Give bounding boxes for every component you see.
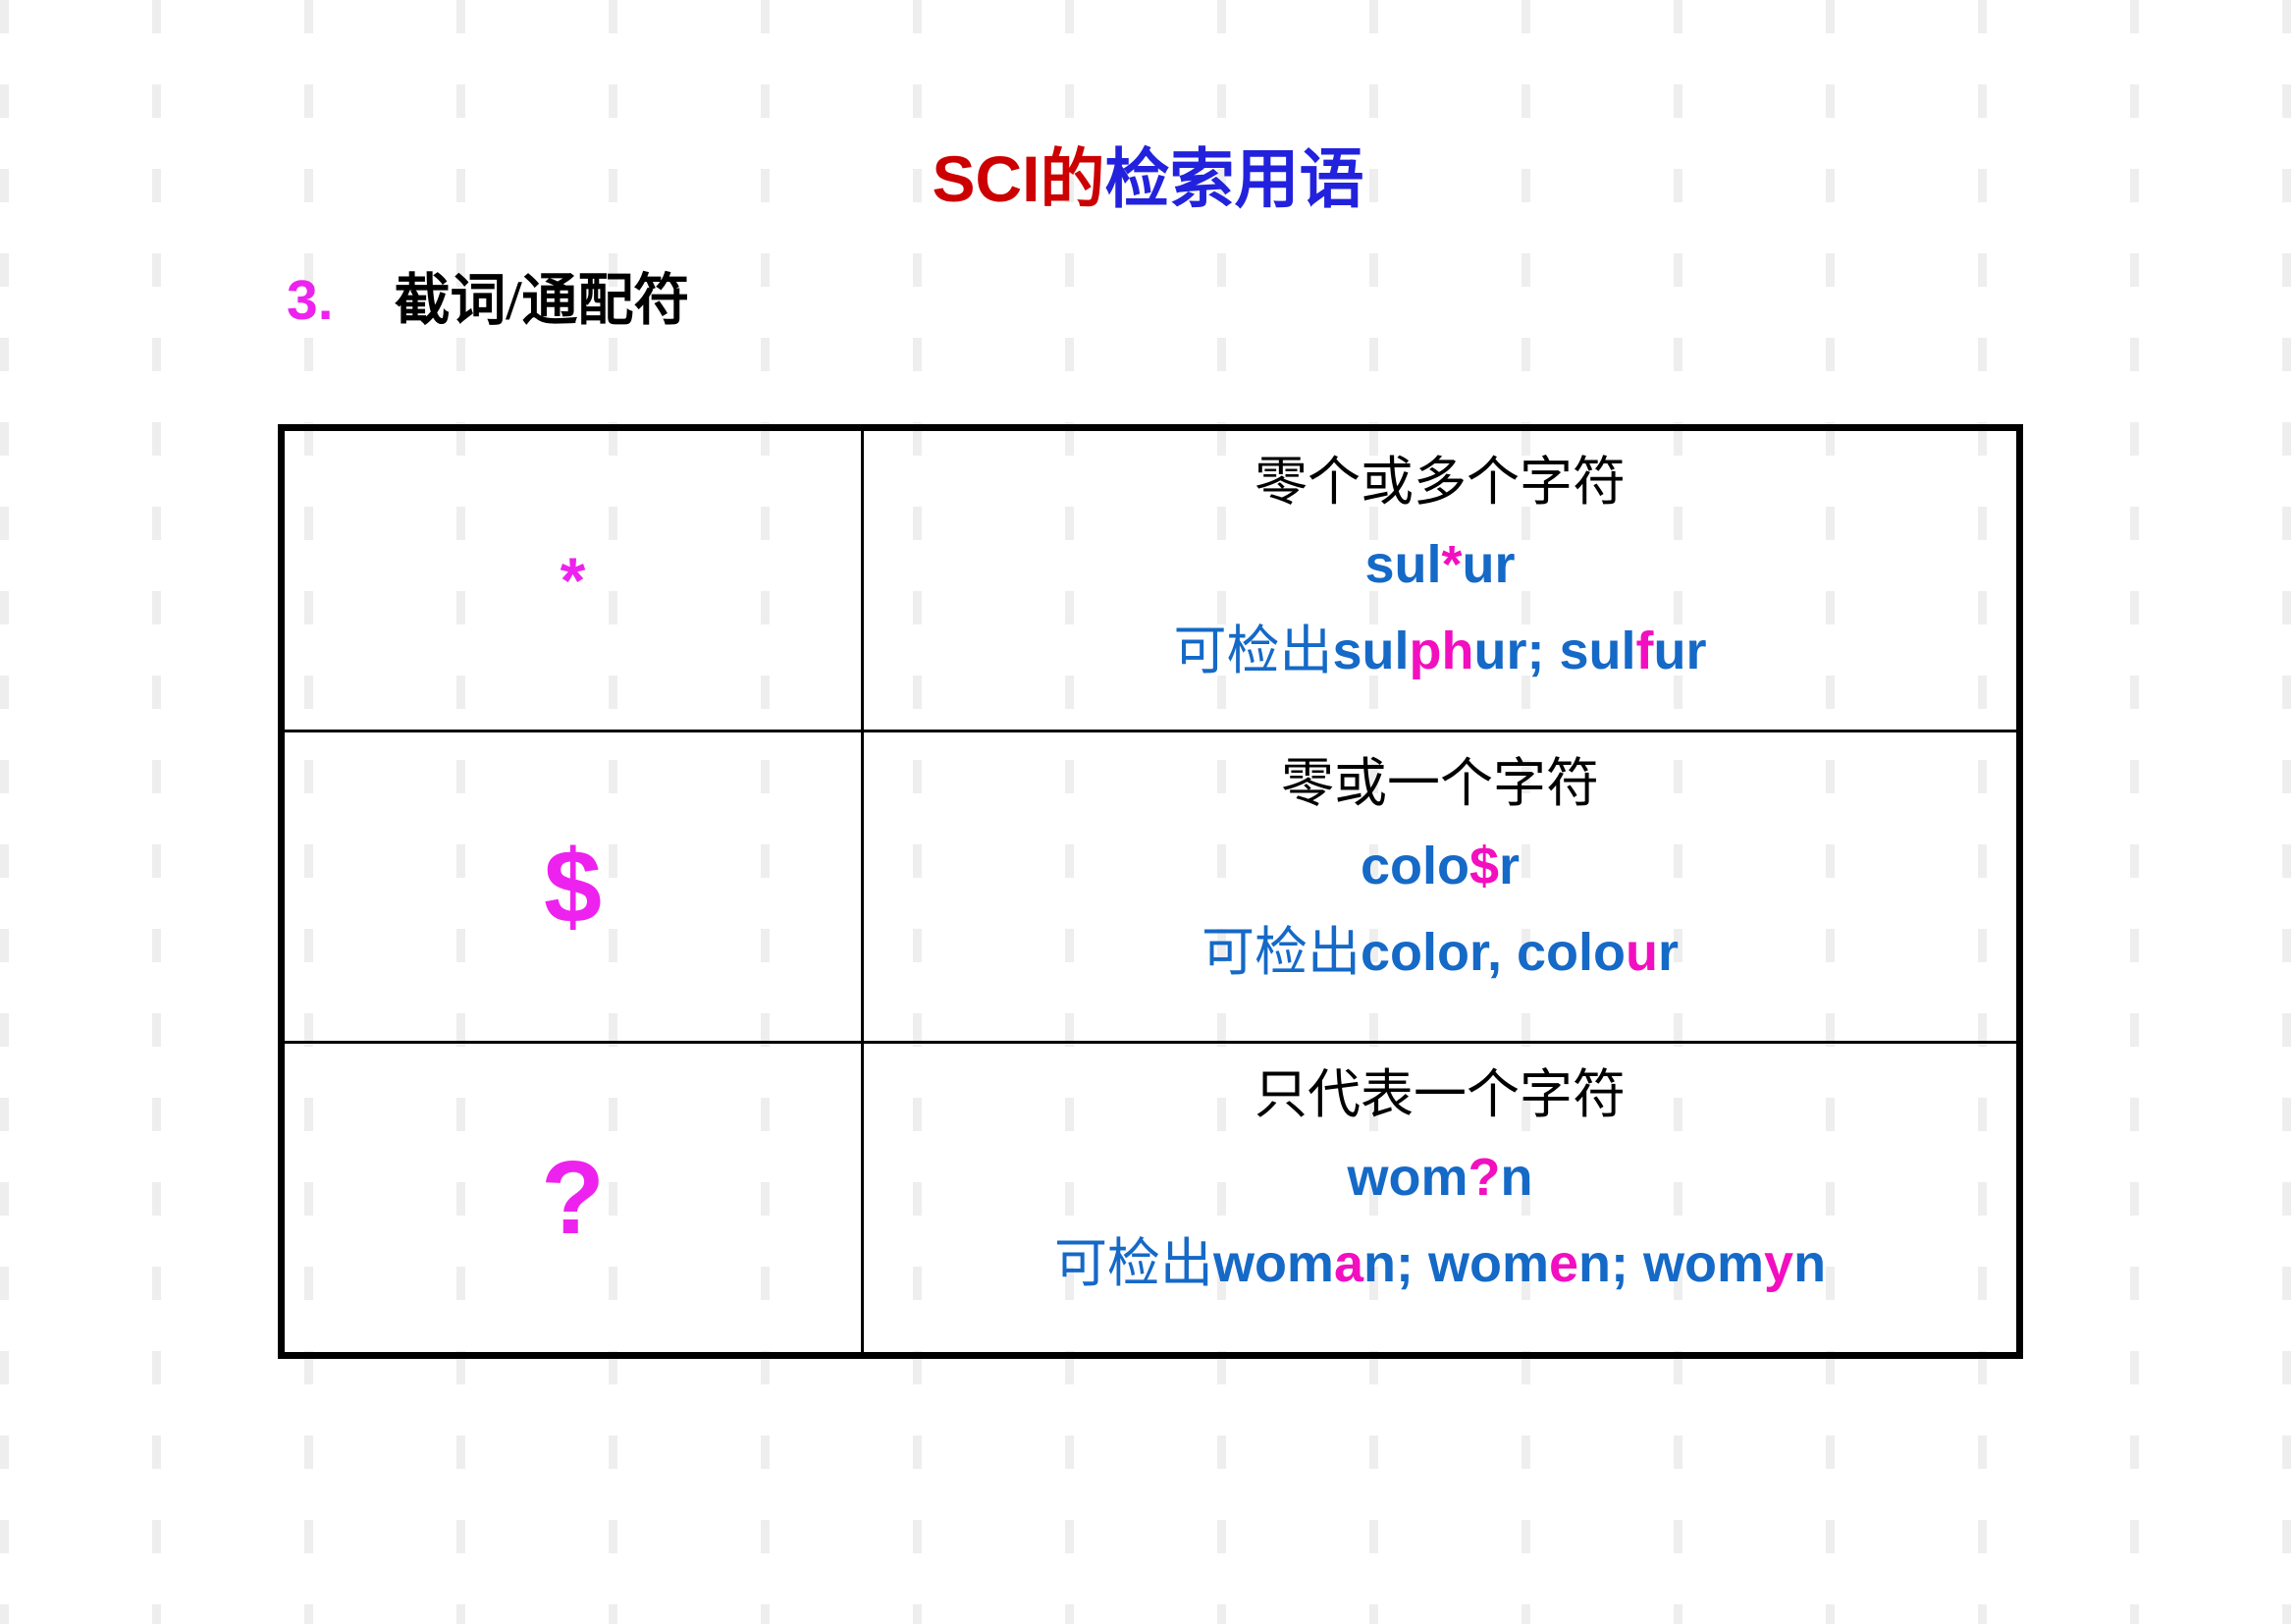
- section-heading: 3.截词/通配符: [287, 267, 689, 335]
- table-cell-symbol: ?: [282, 1043, 863, 1356]
- result-segment: color, colo: [1361, 923, 1626, 982]
- page-title-blue-part: 检索用语: [1105, 142, 1364, 215]
- result-segment-highlight: a: [1334, 1234, 1363, 1293]
- table-cell-description: 零个或多个字符 sul*ur 可检出sulphur; sulfur: [863, 428, 2020, 731]
- pattern-prefix: wom: [1347, 1148, 1468, 1207]
- pattern-prefix: sul: [1364, 535, 1441, 594]
- result-segment: r: [1658, 923, 1679, 982]
- result-segment: n: [1793, 1234, 1826, 1293]
- table-row: ? 只代表一个字符 wom?n 可检出woman; women; womyn: [282, 1043, 2020, 1356]
- result-segment: ur; sul: [1474, 622, 1636, 680]
- wildcard-result: 可检出color, colour: [864, 909, 2016, 990]
- wildcard-table: * 零个或多个字符 sul*ur 可检出sulphur; sulfur $ 零或: [278, 424, 2023, 1359]
- pattern-wildcard: ?: [1468, 1148, 1501, 1207]
- result-segment: wom: [1213, 1234, 1334, 1293]
- dollar-wildcard-symbol: $: [544, 829, 602, 945]
- result-segment-highlight: u: [1626, 923, 1658, 982]
- table-cell-symbol: *: [282, 428, 863, 731]
- result-label: 可检出: [1173, 622, 1332, 680]
- section-label: 截词/通配符: [395, 270, 690, 332]
- wildcard-pattern: wom?n: [864, 1132, 2016, 1220]
- pattern-suffix: ur: [1463, 535, 1516, 594]
- result-segment: ur: [1654, 622, 1707, 680]
- result-label: 可检出: [1054, 1234, 1213, 1293]
- pattern-suffix: r: [1499, 837, 1520, 895]
- result-label: 可检出: [1201, 923, 1361, 982]
- wildcard-description: 零个或多个字符: [864, 441, 2016, 519]
- page-title-red-part: SCI的: [932, 142, 1104, 215]
- table-row: $ 零或一个字符 colo$r 可检出color, colour: [282, 731, 2020, 1043]
- question-wildcard-symbol: ?: [541, 1140, 605, 1256]
- page-title: SCI的检索用语: [0, 140, 2296, 217]
- wildcard-pattern: sul*ur: [864, 519, 2016, 608]
- result-segment: sul: [1332, 622, 1409, 680]
- result-segment-highlight: y: [1764, 1234, 1793, 1293]
- table-row: * 零个或多个字符 sul*ur 可检出sulphur; sulfur: [282, 428, 2020, 731]
- pattern-wildcard: *: [1442, 535, 1463, 594]
- result-segment: n; wom: [1578, 1234, 1764, 1293]
- table-cell-description: 零或一个字符 colo$r 可检出color, colour: [863, 731, 2020, 1043]
- result-segment: n; wom: [1363, 1234, 1549, 1293]
- slide-canvas: SCI的检索用语 3.截词/通配符 * 零个或多个字符 sul*ur 可检出su…: [0, 0, 2296, 1624]
- wildcard-pattern: colo$r: [864, 821, 2016, 909]
- result-segment-highlight: f: [1636, 622, 1654, 680]
- wildcard-description: 零或一个字符: [864, 742, 2016, 821]
- result-segment-highlight: ph: [1410, 622, 1474, 680]
- wildcard-description: 只代表一个字符: [864, 1054, 2016, 1132]
- table-cell-description: 只代表一个字符 wom?n 可检出woman; women; womyn: [863, 1043, 2020, 1356]
- pattern-wildcard: $: [1469, 837, 1499, 895]
- asterisk-wildcard-symbol: *: [561, 544, 586, 617]
- pattern-suffix: n: [1501, 1148, 1533, 1207]
- section-number: 3.: [287, 269, 334, 332]
- pattern-prefix: colo: [1361, 837, 1469, 895]
- result-segment-highlight: e: [1549, 1234, 1578, 1293]
- wildcard-result: 可检出woman; women; womyn: [864, 1220, 2016, 1301]
- wildcard-result: 可检出sulphur; sulfur: [864, 608, 2016, 688]
- table-cell-symbol: $: [282, 731, 863, 1043]
